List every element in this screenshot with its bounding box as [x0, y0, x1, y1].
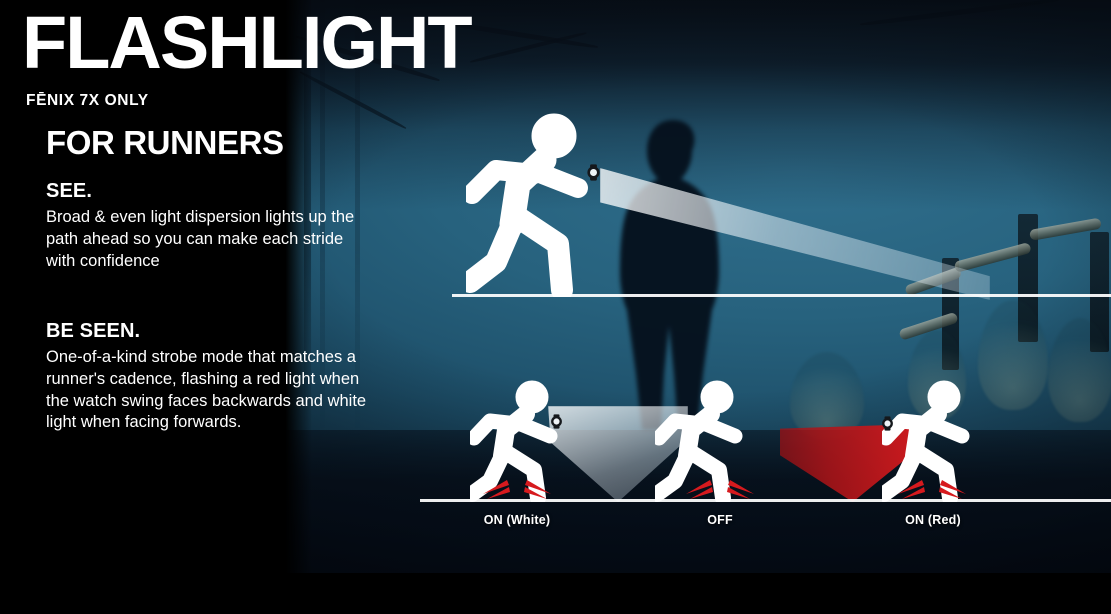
section-see-body: Broad & even light dispersion lights up … [46, 207, 371, 272]
flashlight-infographic: ON (White) OFF ON (Red) FLASHLIGHT FĒNIX… [0, 0, 1111, 614]
headline: FOR RUNNERS [46, 124, 284, 162]
strobe-burst-icon [896, 474, 968, 500]
product-subtitle: FĒNIX 7X ONLY [26, 92, 149, 110]
strobe-burst-icon [481, 474, 553, 500]
mode-label-on-red: ON (Red) [868, 513, 998, 527]
night-forest-background: ON (White) OFF ON (Red) FLASHLIGHT FĒNIX… [0, 0, 1111, 573]
bottom-letterbox-bar [0, 573, 1111, 614]
section-be-seen-body: One-of-a-kind strobe mode that matches a… [46, 347, 371, 434]
page-title: FLASHLIGHT [22, 8, 471, 78]
section-be-seen-title: BE SEEN. [46, 320, 371, 343]
runner-top [466, 112, 616, 297]
copy-block: FLASHLIGHT FĒNIX 7X ONLY FOR RUNNERS SEE… [0, 0, 400, 573]
mode-label-on-white: ON (White) [452, 513, 582, 527]
section-see: SEE. Broad & even light dispersion light… [46, 180, 371, 272]
section-see-title: SEE. [46, 180, 371, 203]
watch-icon [549, 414, 564, 429]
watch-icon [880, 416, 895, 431]
watch-icon [585, 164, 602, 181]
strobe-burst-icon [684, 474, 756, 500]
mode-label-off: OFF [655, 513, 785, 527]
section-be-seen: BE SEEN. One-of-a-kind strobe mode that … [46, 320, 371, 434]
